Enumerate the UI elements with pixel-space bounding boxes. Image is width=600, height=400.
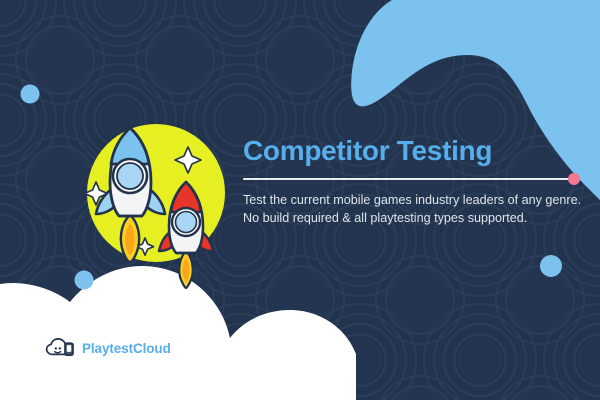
underline-dot-icon	[568, 173, 580, 185]
logo-wordmark: PlaytestCloud	[82, 341, 171, 356]
playtestcloud-logo: PlaytestCloud	[45, 336, 171, 360]
promo-card: Competitor Testing Test the current mobi…	[0, 0, 600, 400]
title-underline	[243, 174, 598, 184]
text-block: Competitor Testing Test the current mobi…	[243, 136, 598, 228]
page-description: Test the current mobile games industry l…	[243, 192, 598, 228]
cloud-device-icon	[45, 336, 77, 360]
underline-rule	[243, 178, 573, 180]
page-title: Competitor Testing	[243, 136, 598, 167]
